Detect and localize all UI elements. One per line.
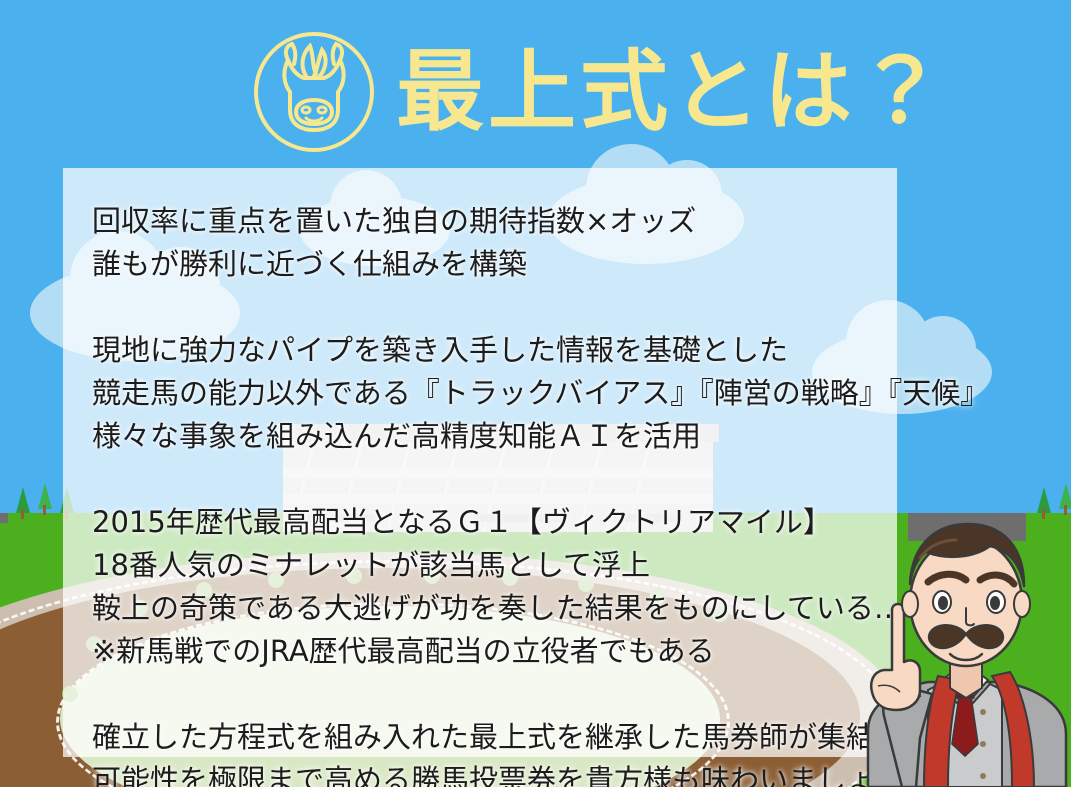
- copy-line: 確立した方程式を組み入れた最上式を継承した馬券師が集結: [92, 716, 892, 759]
- slide-canvas: 最上式とは？ 回収率に重点を置いた独自の期待指数×オッズ 誰もが勝利に近づく仕組…: [0, 0, 1071, 787]
- copy-line: 現地に強力なパイプを築き入手した情報を基礎とした: [92, 329, 892, 372]
- copy-line: 競走馬の能力以外である『トラックバイアス』『陣営の戦略』『天候』: [92, 372, 892, 415]
- copy-line: 誰もが勝利に近づく仕組みを構築: [92, 243, 892, 286]
- page-title: 最上式とは？: [396, 26, 948, 158]
- copy-line: 回収率に重点を置いた独自の期待指数×オッズ: [92, 200, 892, 243]
- copy-line: 様々な事象を組み込んだ高精度知能ＡＩを活用: [92, 415, 892, 458]
- page-header: 最上式とは？: [0, 0, 1071, 168]
- horse-head-logo-icon: [248, 26, 380, 158]
- copy-line: 可能性を極限まで高める勝馬投票券を貴方様も味わいましょう: [92, 759, 892, 787]
- copy-line: 鞍上の奇策である大逃げが功を奏した結果をものにしている…: [92, 587, 892, 630]
- copy-line: ※新馬戦でのJRA歴代最高配当の立役者でもある: [92, 630, 892, 673]
- copy-block: 回収率に重点を置いた独自の期待指数×オッズ 誰もが勝利に近づく仕組みを構築: [92, 200, 892, 286]
- mascot-character: [862, 498, 1071, 787]
- perimeter-wall-left: [0, 513, 8, 523]
- copy-block: 確立した方程式を組み入れた最上式を継承した馬券師が集結 可能性を極限まで高める勝…: [92, 716, 892, 787]
- copy-block: 現地に強力なパイプを築き入手した情報を基礎とした 競走馬の能力以外である『トラッ…: [92, 329, 892, 458]
- copy-block: 2015年歴代最高配当となるＧ１【ヴィクトリアマイル】 18番人気のミナレットが…: [92, 501, 892, 673]
- copy-line: 18番人気のミナレットが該当馬として浮上: [92, 544, 892, 587]
- body-copy: 回収率に重点を置いた独自の期待指数×オッズ 誰もが勝利に近づく仕組みを構築 現地…: [92, 200, 892, 787]
- copy-line: 2015年歴代最高配当となるＧ１【ヴィクトリアマイル】: [92, 501, 892, 544]
